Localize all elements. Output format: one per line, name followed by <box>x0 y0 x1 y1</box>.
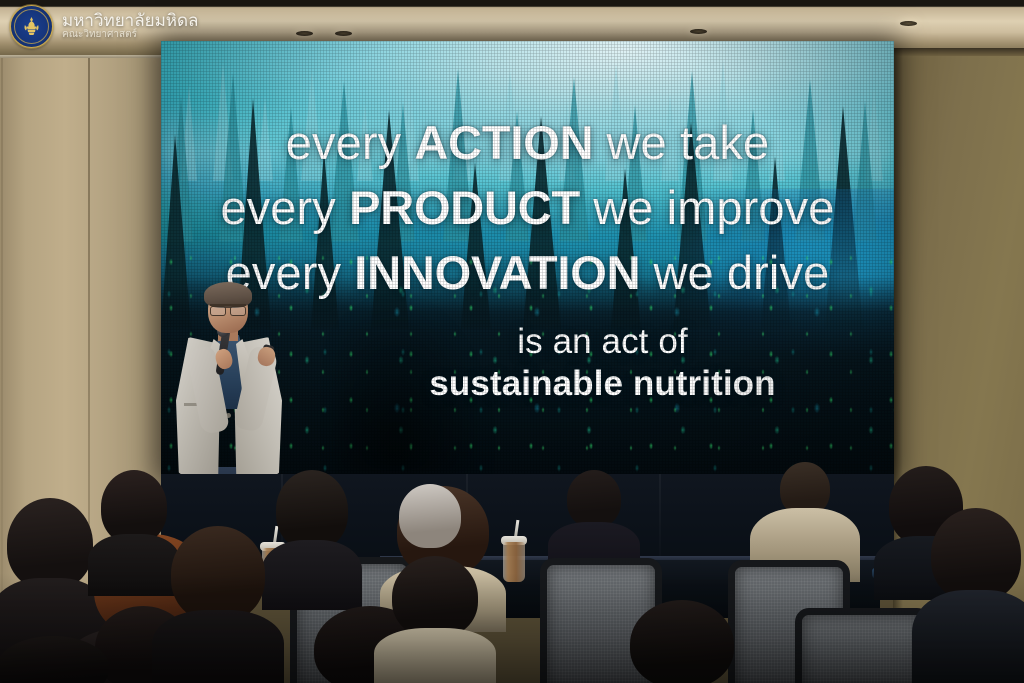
audience-member <box>0 636 128 683</box>
slide-line-4: is an act of <box>236 324 894 359</box>
watermark-text: มหาวิทยาลัยมหิดล คณะวิทยาศาสตร์ <box>62 12 198 40</box>
slide-line-2: every PRODUCT we improve <box>161 184 894 231</box>
audience-member <box>912 508 1024 683</box>
university-watermark: มหาวิทยาลัยมหิดล คณะวิทยาศาสตร์ <box>10 5 198 48</box>
downlight-icon <box>296 31 313 36</box>
coffee-cup <box>503 532 527 584</box>
mahidol-university-seal-icon <box>10 5 53 48</box>
watermark-line-2: คณะวิทยาศาสตร์ <box>62 30 198 41</box>
audience-member <box>374 556 496 683</box>
conference-photo: every ACTION we take every PRODUCT we im… <box>0 0 1024 683</box>
slide-line-1: every ACTION we take <box>161 119 894 166</box>
royal-crown-icon <box>23 17 40 36</box>
downlight-icon <box>900 21 917 26</box>
downlight-icon <box>690 29 707 34</box>
slide-line-5: sustainable nutrition <box>236 366 894 401</box>
audience-member <box>152 526 284 683</box>
wall-top-shadow <box>893 48 1024 56</box>
eyeglasses-icon <box>210 304 246 314</box>
downlight-icon <box>335 31 352 36</box>
audience-member <box>612 600 752 683</box>
watermark-line-1: มหาวิทยาลัยมหิดล <box>62 12 198 30</box>
cup-body <box>503 542 525 582</box>
audience-member <box>390 484 470 558</box>
conference-chair <box>795 608 917 683</box>
